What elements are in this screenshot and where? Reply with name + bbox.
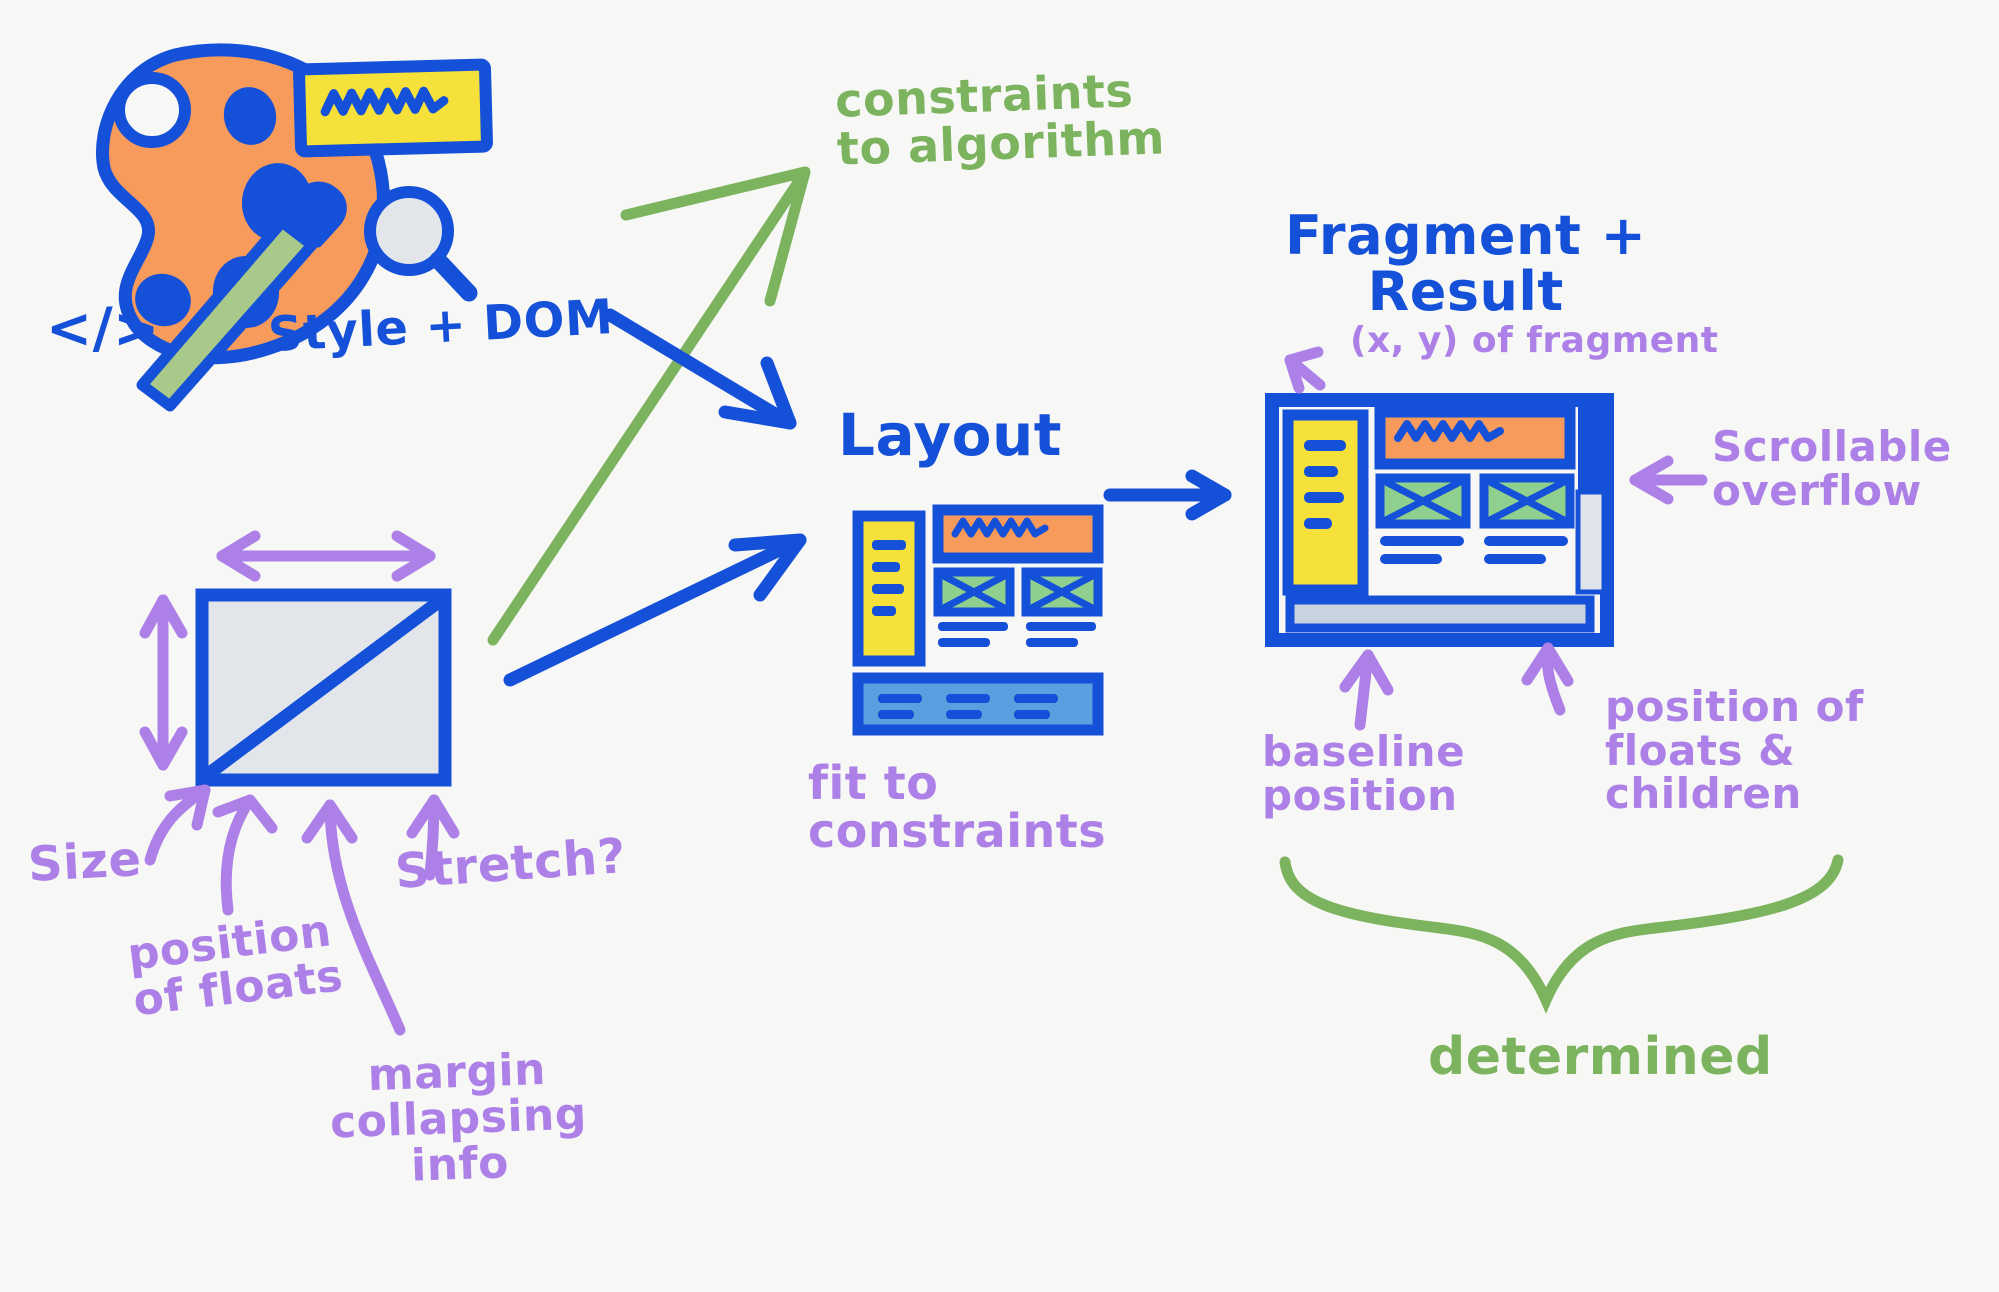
scrollbar-thumb xyxy=(1578,400,1604,490)
scrollbar-track xyxy=(1578,492,1604,592)
baseline-position-label: baseline position xyxy=(1262,730,1465,817)
margin-collapsing-info-label: margin collapsing info xyxy=(328,1046,589,1192)
scrollable-overflow-label: Scrollable overflow xyxy=(1712,425,1952,512)
layout-label: Layout xyxy=(838,405,1062,465)
xy-of-fragment-label: (x, y) of fragment xyxy=(1350,322,1719,359)
constraints-to-algorithm-label: constraints to algorithm xyxy=(834,66,1165,173)
determined-label: determined xyxy=(1428,1030,1773,1084)
fragment-result-label: Fragment + Result xyxy=(1285,208,1646,320)
fragment-wireframe xyxy=(1272,400,1607,640)
code-tag-label: </> xyxy=(46,300,160,357)
diagram-canvas xyxy=(0,0,1999,1292)
position-of-floats-children-label: position of floats & children xyxy=(1605,685,1864,816)
size-label: Size xyxy=(27,835,143,891)
text-box-icon xyxy=(299,65,487,152)
fit-to-constraints-label: fit to constraints xyxy=(808,760,1106,856)
